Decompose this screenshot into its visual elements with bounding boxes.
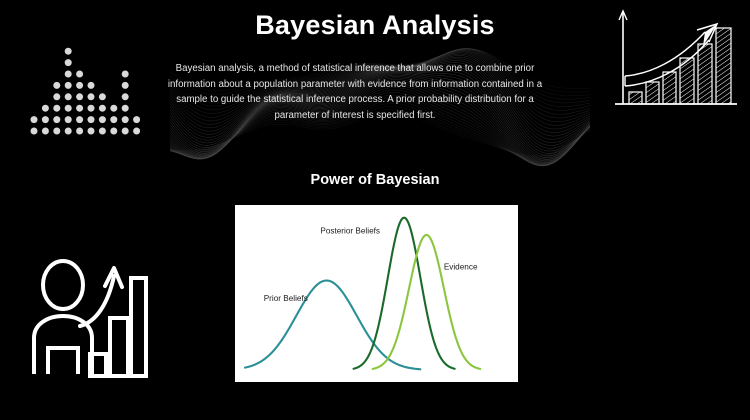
matrix-dot xyxy=(76,82,83,89)
slide-canvas: Bayesian Analysis Bayesian analysis, a m… xyxy=(0,0,750,420)
matrix-dot xyxy=(65,116,72,123)
matrix-dot xyxy=(42,128,49,135)
body-paragraph: Bayesian analysis, a method of statistic… xyxy=(155,61,555,124)
matrix-dot xyxy=(65,71,72,78)
matrix-dot xyxy=(122,105,129,112)
person-growth-icon xyxy=(28,252,148,380)
matrix-dot xyxy=(110,116,117,123)
matrix-dot xyxy=(53,116,60,123)
matrix-dot xyxy=(76,71,83,78)
dot-matrix-icon xyxy=(28,44,140,136)
matrix-dot xyxy=(99,116,106,123)
matrix-dot xyxy=(76,105,83,112)
matrix-dot xyxy=(122,128,129,135)
growth-chart-sketch-icon xyxy=(605,4,745,122)
matrix-dot xyxy=(133,116,140,123)
curve-label-prior-beliefs: Prior Beliefs xyxy=(264,294,308,303)
matrix-dot xyxy=(65,82,72,89)
matrix-dot xyxy=(76,116,83,123)
matrix-dot xyxy=(133,128,140,135)
matrix-dot xyxy=(42,105,49,112)
curve-label-evidence: Evidence xyxy=(444,263,478,272)
matrix-dot xyxy=(53,82,60,89)
matrix-dot xyxy=(76,93,83,100)
matrix-dot xyxy=(65,93,72,100)
matrix-dot xyxy=(53,105,60,112)
matrix-dot xyxy=(88,128,95,135)
matrix-dot xyxy=(99,128,106,135)
bayesian-chart-panel: Prior BeliefsPosterior BeliefsEvidence xyxy=(235,205,518,382)
matrix-dot xyxy=(65,59,72,66)
matrix-dot xyxy=(122,82,129,89)
matrix-dot xyxy=(65,128,72,135)
curve-label-posterior-beliefs: Posterior Beliefs xyxy=(320,226,380,235)
matrix-dot xyxy=(99,105,106,112)
matrix-dot xyxy=(110,128,117,135)
matrix-dot xyxy=(65,105,72,112)
matrix-dot xyxy=(110,105,117,112)
matrix-dot xyxy=(42,116,49,123)
matrix-dot xyxy=(31,116,38,123)
matrix-dot xyxy=(88,82,95,89)
matrix-dot xyxy=(122,93,129,100)
matrix-dot xyxy=(122,116,129,123)
matrix-dot xyxy=(53,128,60,135)
section-heading: Power of Bayesian xyxy=(0,172,750,188)
matrix-dot xyxy=(76,128,83,135)
bayesian-distribution-chart: Prior BeliefsPosterior BeliefsEvidence xyxy=(235,205,518,382)
matrix-dot xyxy=(53,93,60,100)
matrix-dot xyxy=(88,93,95,100)
matrix-dot xyxy=(88,116,95,123)
matrix-dot xyxy=(31,128,38,135)
matrix-dot xyxy=(88,105,95,112)
matrix-dot xyxy=(122,71,129,78)
matrix-dot xyxy=(99,93,106,100)
matrix-dot xyxy=(65,48,72,55)
